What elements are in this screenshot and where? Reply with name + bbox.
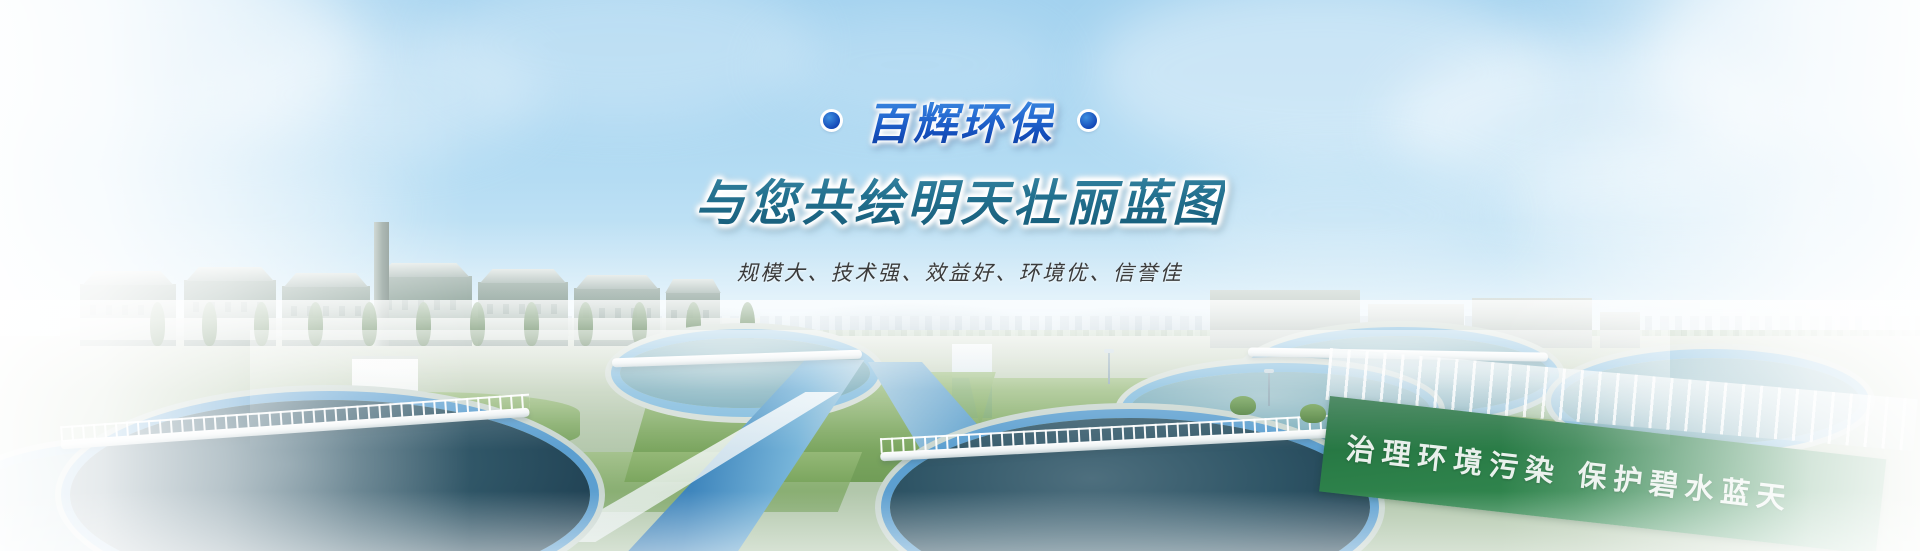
decorative-dot-icon <box>823 112 840 129</box>
photo-fade-bottom <box>0 491 1920 551</box>
slogan-headline: 与您共绘明天壮丽蓝图 <box>695 164 1225 235</box>
tagline-text: 规模大、技术强、效益好、环境优、信誉佳 <box>737 257 1184 287</box>
hero-banner: 治理环境污染 保护碧水蓝天 百辉环保 与您共绘明天壮丽蓝图 规模大、技术强、效益… <box>0 0 1920 551</box>
brand-line: 百辉环保 <box>823 88 1097 152</box>
decorative-dot-icon <box>1080 112 1097 129</box>
brand-name: 百辉环保 <box>866 88 1054 152</box>
banner-copy-block: 百辉环保 与您共绘明天壮丽蓝图 规模大、技术强、效益好、环境优、信誉佳 <box>0 0 1920 300</box>
